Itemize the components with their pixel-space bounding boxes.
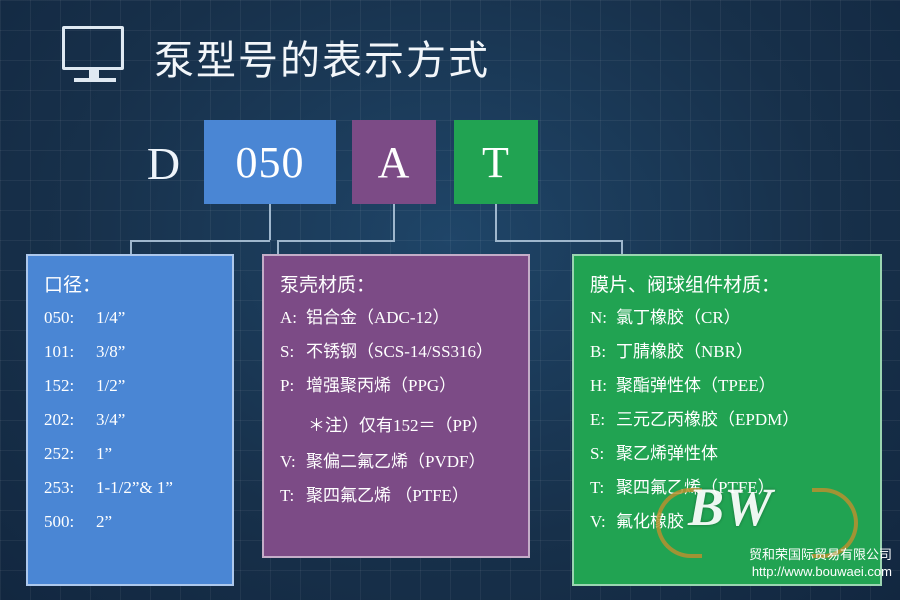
row-key: 152: — [44, 377, 96, 394]
code-box-series: D — [130, 124, 198, 202]
row-value: 1-1/2”& 1” — [96, 478, 173, 497]
row-key: 253: — [44, 479, 96, 496]
panel-diaphragm-material-row: H:聚酯弹性体（TPEE） — [590, 377, 864, 394]
connector-diaphragm-vertical-top — [495, 204, 497, 240]
monitor-screen — [62, 26, 124, 70]
row-key: 101: — [44, 343, 96, 360]
panel-diameter-row: 253:1-1/2”& 1” — [44, 479, 216, 496]
row-value: 1/4” — [96, 308, 125, 327]
row-key: P: — [280, 377, 306, 394]
row-key: E: — [590, 411, 616, 428]
panel-diameter-row: 050:1/4” — [44, 309, 216, 326]
row-value: 3/8” — [96, 342, 125, 361]
panel-diaphragm-material: 膜片、阀球组件材质： N:氯丁橡胶（CR） B:丁腈橡胶（NBR） H:聚酯弹性… — [572, 254, 882, 586]
code-box-diaphragm-material: T — [454, 120, 538, 204]
panel-diameter-row: 101:3/8” — [44, 343, 216, 360]
panel-body-material-row: P:增强聚丙烯（PPG） — [280, 377, 512, 394]
row-value: 氟化橡胶 — [616, 512, 684, 531]
row-value: 三元乙丙橡胶（EPDM） — [616, 410, 799, 429]
panel-diameter-row: 252:1” — [44, 445, 216, 462]
row-key: 050: — [44, 309, 96, 326]
monitor-neck — [89, 70, 99, 78]
panel-body-material: 泵壳材质： A:铝合金（ADC-12） S:不锈钢（SCS-14/SS316） … — [262, 254, 530, 558]
row-value: 增强聚丙烯（PPG） — [306, 376, 456, 395]
row-key: H: — [590, 377, 616, 394]
row-key: S: — [280, 343, 306, 360]
row-value: 聚酯弹性体（TPEE） — [616, 376, 776, 395]
row-value: 聚乙烯弹性体 — [616, 444, 718, 463]
row-value: 1” — [96, 444, 112, 463]
panel-diameter-row: 500:2” — [44, 513, 216, 530]
row-key: 202: — [44, 411, 96, 428]
row-key: 500: — [44, 513, 96, 530]
row-value: 氯丁橡胶（CR） — [616, 308, 741, 327]
header: 泵型号的表示方式 — [62, 26, 490, 88]
panel-diaphragm-material-row: T:聚四氟乙烯（PTFE） — [590, 479, 864, 496]
panel-diameter-row: 202:3/4” — [44, 411, 216, 428]
row-value: 铝合金（ADC-12） — [306, 308, 450, 327]
diagram-canvas: 泵型号的表示方式 D 050 A T 口径： 050:1/4” 101:3/8”… — [0, 0, 900, 600]
row-key: N: — [590, 309, 616, 326]
row-key: 252: — [44, 445, 96, 462]
connector-body-vertical-top — [393, 204, 395, 240]
row-value: 聚四氟乙烯（PTFE） — [616, 478, 775, 497]
panel-diameter: 口径： 050:1/4” 101:3/8” 152:1/2” 202:3/4” … — [26, 254, 234, 586]
panel-body-material-title: 泵壳材质： — [280, 270, 512, 297]
panel-diameter-title: 口径： — [44, 270, 216, 297]
row-key: A: — [280, 309, 306, 326]
row-key: S: — [590, 445, 616, 462]
panel-body-material-row: S:不锈钢（SCS-14/SS316） — [280, 343, 512, 360]
row-key: V: — [590, 513, 616, 530]
row-value: 聚四氟乙烯 （PTFE） — [306, 486, 469, 505]
panel-diaphragm-material-title: 膜片、阀球组件材质： — [590, 270, 864, 297]
connector-size-horizontal — [130, 240, 270, 242]
panel-diameter-row: 152:1/2” — [44, 377, 216, 394]
connector-body-horizontal — [277, 240, 395, 242]
row-key: T: — [280, 487, 306, 504]
page-title: 泵型号的表示方式 — [154, 28, 490, 86]
connector-size-vertical-top — [269, 204, 271, 240]
panel-diaphragm-material-row: B:丁腈橡胶（NBR） — [590, 343, 864, 360]
panel-body-material-row: T:聚四氟乙烯 （PTFE） — [280, 487, 512, 504]
row-value: 丁腈橡胶（NBR） — [616, 342, 753, 361]
row-key: T: — [590, 479, 616, 496]
row-key: V: — [280, 453, 306, 470]
panel-diaphragm-material-row: V:氟化橡胶 — [590, 513, 864, 530]
panel-body-material-row: A:铝合金（ADC-12） — [280, 309, 512, 326]
row-value: 不锈钢（SCS-14/SS316） — [306, 342, 493, 361]
code-box-size: 050 — [204, 120, 336, 204]
panel-diaphragm-material-row: N:氯丁橡胶（CR） — [590, 309, 864, 326]
row-value: 1/2” — [96, 376, 125, 395]
connector-diaphragm-horizontal — [495, 240, 623, 242]
panel-body-material-row: V:聚偏二氟乙烯（PVDF） — [280, 453, 512, 470]
row-key: B: — [590, 343, 616, 360]
row-value: 2” — [96, 512, 112, 531]
row-value: 3/4” — [96, 410, 125, 429]
panel-diaphragm-material-row: E:三元乙丙橡胶（EPDM） — [590, 411, 864, 428]
row-value: 聚偏二氟乙烯（PVDF） — [306, 452, 485, 471]
monitor-icon — [62, 26, 128, 88]
code-box-body-material: A — [352, 120, 436, 204]
panel-diaphragm-material-row: S:聚乙烯弹性体 — [590, 445, 864, 462]
monitor-base — [74, 78, 116, 82]
panel-body-material-note: ＊注）仅有152＝（PP） — [308, 411, 512, 436]
